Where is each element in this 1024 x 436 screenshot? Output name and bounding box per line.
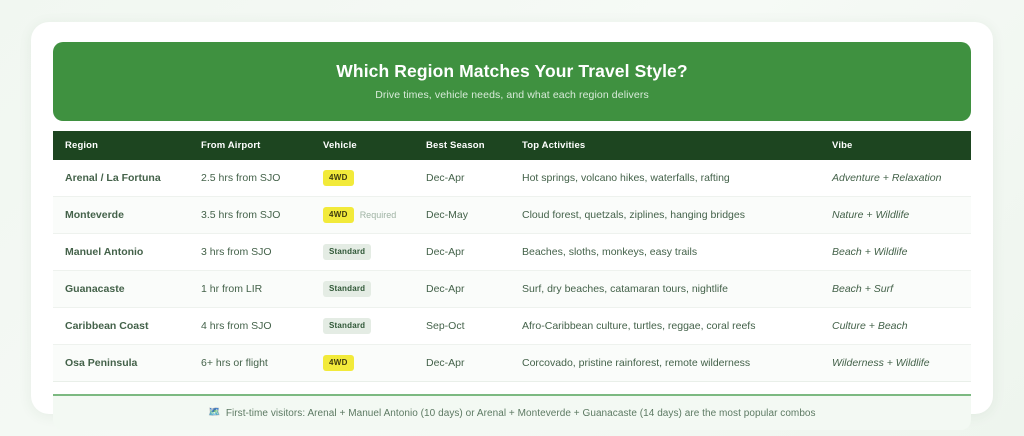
cell-top-activities: Cloud forest, quetzals, ziplines, hangin… xyxy=(522,197,832,234)
table-body: Arenal / La Fortuna 2.5 hrs from SJO 4WD… xyxy=(53,160,971,382)
cell-region: Manuel Antonio xyxy=(53,234,201,271)
column-header-region[interactable]: Region xyxy=(53,131,201,160)
table-row[interactable]: Guanacaste 1 hr from LIR Standard Dec-Ap… xyxy=(53,271,971,308)
cell-top-activities: Hot springs, volcano hikes, waterfalls, … xyxy=(522,160,832,197)
cell-top-activities: Corcovado, pristine rainforest, remote w… xyxy=(522,345,832,382)
cell-region: Monteverde xyxy=(53,197,201,234)
vehicle-badge: Standard xyxy=(323,281,371,297)
cell-vehicle: Standard xyxy=(323,308,426,345)
cell-vehicle: Standard xyxy=(323,271,426,308)
cell-from-airport: 1 hr from LIR xyxy=(201,271,323,308)
cell-top-activities: Afro-Caribbean culture, turtles, reggae,… xyxy=(522,308,832,345)
column-header-top-activities[interactable]: Top Activities xyxy=(522,131,832,160)
cell-top-activities: Surf, dry beaches, catamaran tours, nigh… xyxy=(522,271,832,308)
vehicle-badge: Standard xyxy=(323,318,371,334)
table-row[interactable]: Osa Peninsula 6+ hrs or flight 4WD Dec-A… xyxy=(53,345,971,382)
cell-vehicle: Standard xyxy=(323,234,426,271)
page-subtitle: Drive times, vehicle needs, and what eac… xyxy=(375,89,649,101)
map-icon: 🗺️ xyxy=(208,408,220,418)
cell-from-airport: 4 hrs from SJO xyxy=(201,308,323,345)
cell-vehicle: 4WD xyxy=(323,160,426,197)
cell-vibe: Culture + Beach xyxy=(832,308,971,345)
vehicle-note: Required xyxy=(360,210,397,220)
cell-best-season: Sep-Oct xyxy=(426,308,522,345)
page-root: Which Region Matches Your Travel Style? … xyxy=(0,0,1024,436)
cell-best-season: Dec-Apr xyxy=(426,234,522,271)
vehicle-badge: 4WD xyxy=(323,355,354,371)
cell-region: Osa Peninsula xyxy=(53,345,201,382)
cell-vibe: Adventure + Relaxation xyxy=(832,160,971,197)
cell-vibe: Wilderness + Wildlife xyxy=(832,345,971,382)
cell-vehicle: 4WD Required xyxy=(323,197,426,234)
cell-top-activities: Beaches, sloths, monkeys, easy trails xyxy=(522,234,832,271)
cell-from-airport: 6+ hrs or flight xyxy=(201,345,323,382)
cell-region: Arenal / La Fortuna xyxy=(53,160,201,197)
travel-style-card: Which Region Matches Your Travel Style? … xyxy=(31,22,993,414)
vehicle-badge: 4WD xyxy=(323,170,354,186)
column-header-vehicle[interactable]: Vehicle xyxy=(323,131,426,160)
column-header-from-airport[interactable]: From Airport xyxy=(201,131,323,160)
vehicle-badge: Standard xyxy=(323,244,371,260)
cell-vibe: Nature + Wildlife xyxy=(832,197,971,234)
cell-best-season: Dec-Apr xyxy=(426,271,522,308)
card-banner: Which Region Matches Your Travel Style? … xyxy=(53,42,971,121)
vehicle-badge: 4WD xyxy=(323,207,354,223)
table-row[interactable]: Arenal / La Fortuna 2.5 hrs from SJO 4WD… xyxy=(53,160,971,197)
page-title: Which Region Matches Your Travel Style? xyxy=(336,62,687,81)
footnote-bar: 🗺️ First-time visitors: Arenal + Manuel … xyxy=(53,394,971,430)
region-table-wrapper: Region From Airport Vehicle Best Season … xyxy=(53,131,971,382)
cell-region: Caribbean Coast xyxy=(53,308,201,345)
cell-best-season: Dec-Apr xyxy=(426,345,522,382)
cell-from-airport: 3.5 hrs from SJO xyxy=(201,197,323,234)
column-header-vibe[interactable]: Vibe xyxy=(832,131,971,160)
cell-vibe: Beach + Wildlife xyxy=(832,234,971,271)
region-comparison-table: Region From Airport Vehicle Best Season … xyxy=(53,131,971,382)
table-row[interactable]: Caribbean Coast 4 hrs from SJO Standard … xyxy=(53,308,971,345)
table-row[interactable]: Monteverde 3.5 hrs from SJO 4WD Required… xyxy=(53,197,971,234)
footnote-text: First-time visitors: Arenal + Manuel Ant… xyxy=(226,408,816,419)
cell-region: Guanacaste xyxy=(53,271,201,308)
table-row[interactable]: Manuel Antonio 3 hrs from SJO Standard D… xyxy=(53,234,971,271)
cell-vibe: Beach + Surf xyxy=(832,271,971,308)
cell-from-airport: 3 hrs from SJO xyxy=(201,234,323,271)
column-header-best-season[interactable]: Best Season xyxy=(426,131,522,160)
cell-best-season: Dec-Apr xyxy=(426,160,522,197)
table-header-row: Region From Airport Vehicle Best Season … xyxy=(53,131,971,160)
cell-vehicle: 4WD xyxy=(323,345,426,382)
cell-best-season: Dec-May xyxy=(426,197,522,234)
cell-from-airport: 2.5 hrs from SJO xyxy=(201,160,323,197)
table-header: Region From Airport Vehicle Best Season … xyxy=(53,131,971,160)
